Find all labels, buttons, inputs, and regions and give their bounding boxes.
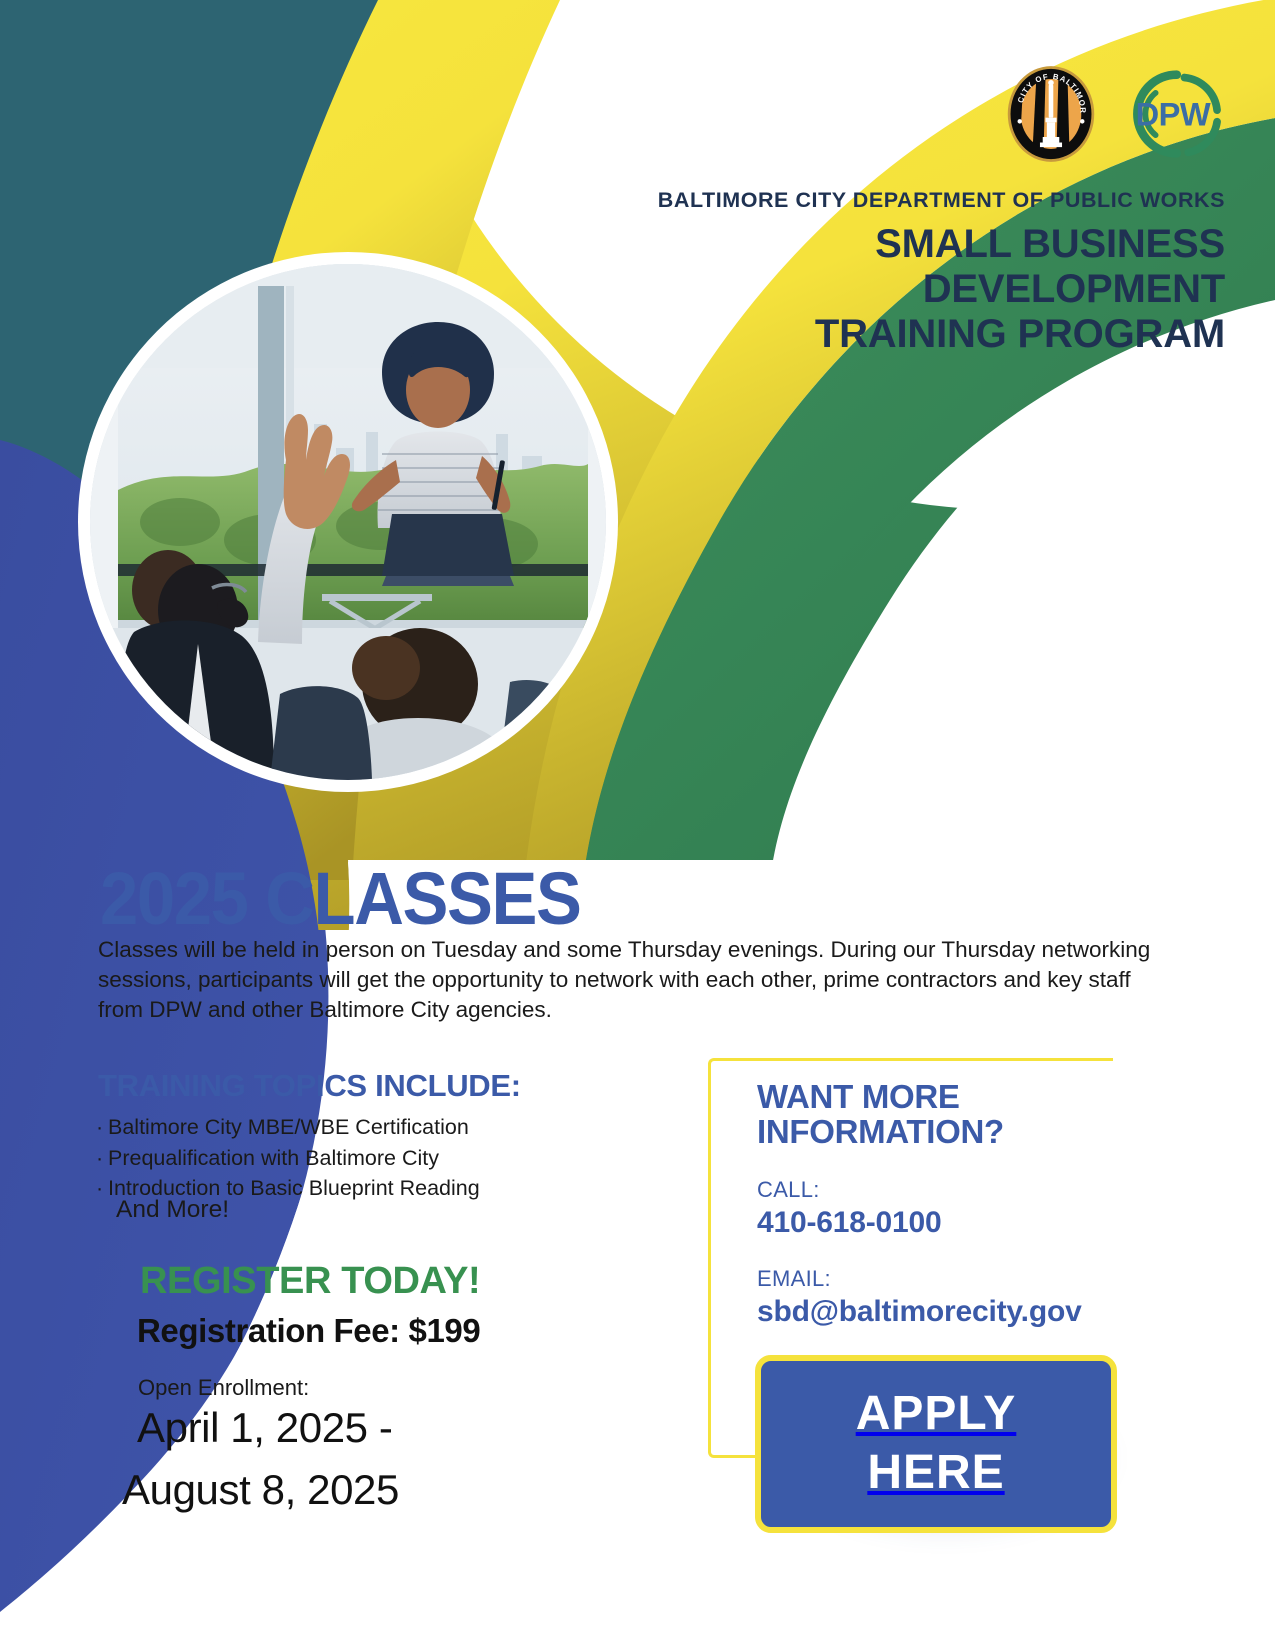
city-of-baltimore-seal-icon: CITY OF BALTIMORE	[1005, 64, 1097, 164]
training-topics-list: ·Baltimore City MBE/WBE Certification ·P…	[96, 1112, 480, 1204]
header-title-line2: TRAINING PROGRAM	[565, 312, 1225, 357]
logo-group: CITY OF BALTIMORE DPW	[565, 62, 1225, 166]
dpw-logo-icon: DPW	[1117, 66, 1225, 162]
phone-number[interactable]: 410-618-0100	[757, 1206, 1197, 1240]
intro-paragraph: Classes will be held in person on Tuesda…	[98, 935, 1158, 1025]
list-item-label: Baltimore City MBE/WBE Certification	[108, 1115, 469, 1139]
register-today-heading: REGISTER TODAY!	[140, 1260, 480, 1303]
header-title: SMALL BUSINESS DEVELOPMENT TRAINING PROG…	[565, 222, 1225, 358]
apply-button-line2: HERE	[867, 1444, 1004, 1503]
training-topics-heading: TRAINING TOPICS INCLUDE:	[98, 1068, 521, 1104]
topics-more-label: And More!	[116, 1196, 229, 1224]
list-item: ·Baltimore City MBE/WBE Certification	[96, 1112, 480, 1143]
flyer-page: CITY OF BALTIMORE DPW BALTIMORE CITY DEP…	[0, 0, 1275, 1650]
page-title: 2025 CLASSES	[100, 862, 581, 936]
apply-here-button[interactable]: APPLY HERE	[755, 1355, 1117, 1533]
call-label: CALL:	[757, 1177, 1197, 1203]
email-label: EMAIL:	[757, 1266, 1197, 1292]
registration-fee: Registration Fee: $199	[137, 1312, 480, 1350]
info-heading-line1: WANT MORE	[757, 1079, 1197, 1114]
more-information-content: WANT MORE INFORMATION? CALL: 410-618-010…	[757, 1079, 1197, 1329]
dpw-wordmark: DPW	[1136, 96, 1211, 133]
bullet-icon: ·	[96, 1143, 108, 1174]
enrollment-end-date: August 8, 2025	[122, 1466, 399, 1514]
apply-button-line1: APPLY	[856, 1385, 1017, 1444]
header-title-line1: SMALL BUSINESS DEVELOPMENT	[565, 222, 1225, 312]
bullet-icon: ·	[96, 1173, 108, 1204]
flyer-header: CITY OF BALTIMORE DPW BALTIMORE CITY DEP…	[565, 62, 1225, 358]
list-item-label: Prequalification with Baltimore City	[108, 1146, 439, 1170]
bullet-icon: ·	[96, 1112, 108, 1143]
header-eyebrow: BALTIMORE CITY DEPARTMENT OF PUBLIC WORK…	[565, 188, 1225, 213]
enrollment-start-date: April 1, 2025 -	[137, 1404, 392, 1452]
email-address[interactable]: sbd@baltimorecity.gov	[757, 1295, 1197, 1329]
want-more-information-heading: WANT MORE INFORMATION?	[757, 1079, 1197, 1150]
open-enrollment-label: Open Enrollment:	[138, 1375, 309, 1401]
info-heading-line2: INFORMATION?	[757, 1114, 1197, 1149]
list-item: ·Prequalification with Baltimore City	[96, 1143, 480, 1174]
